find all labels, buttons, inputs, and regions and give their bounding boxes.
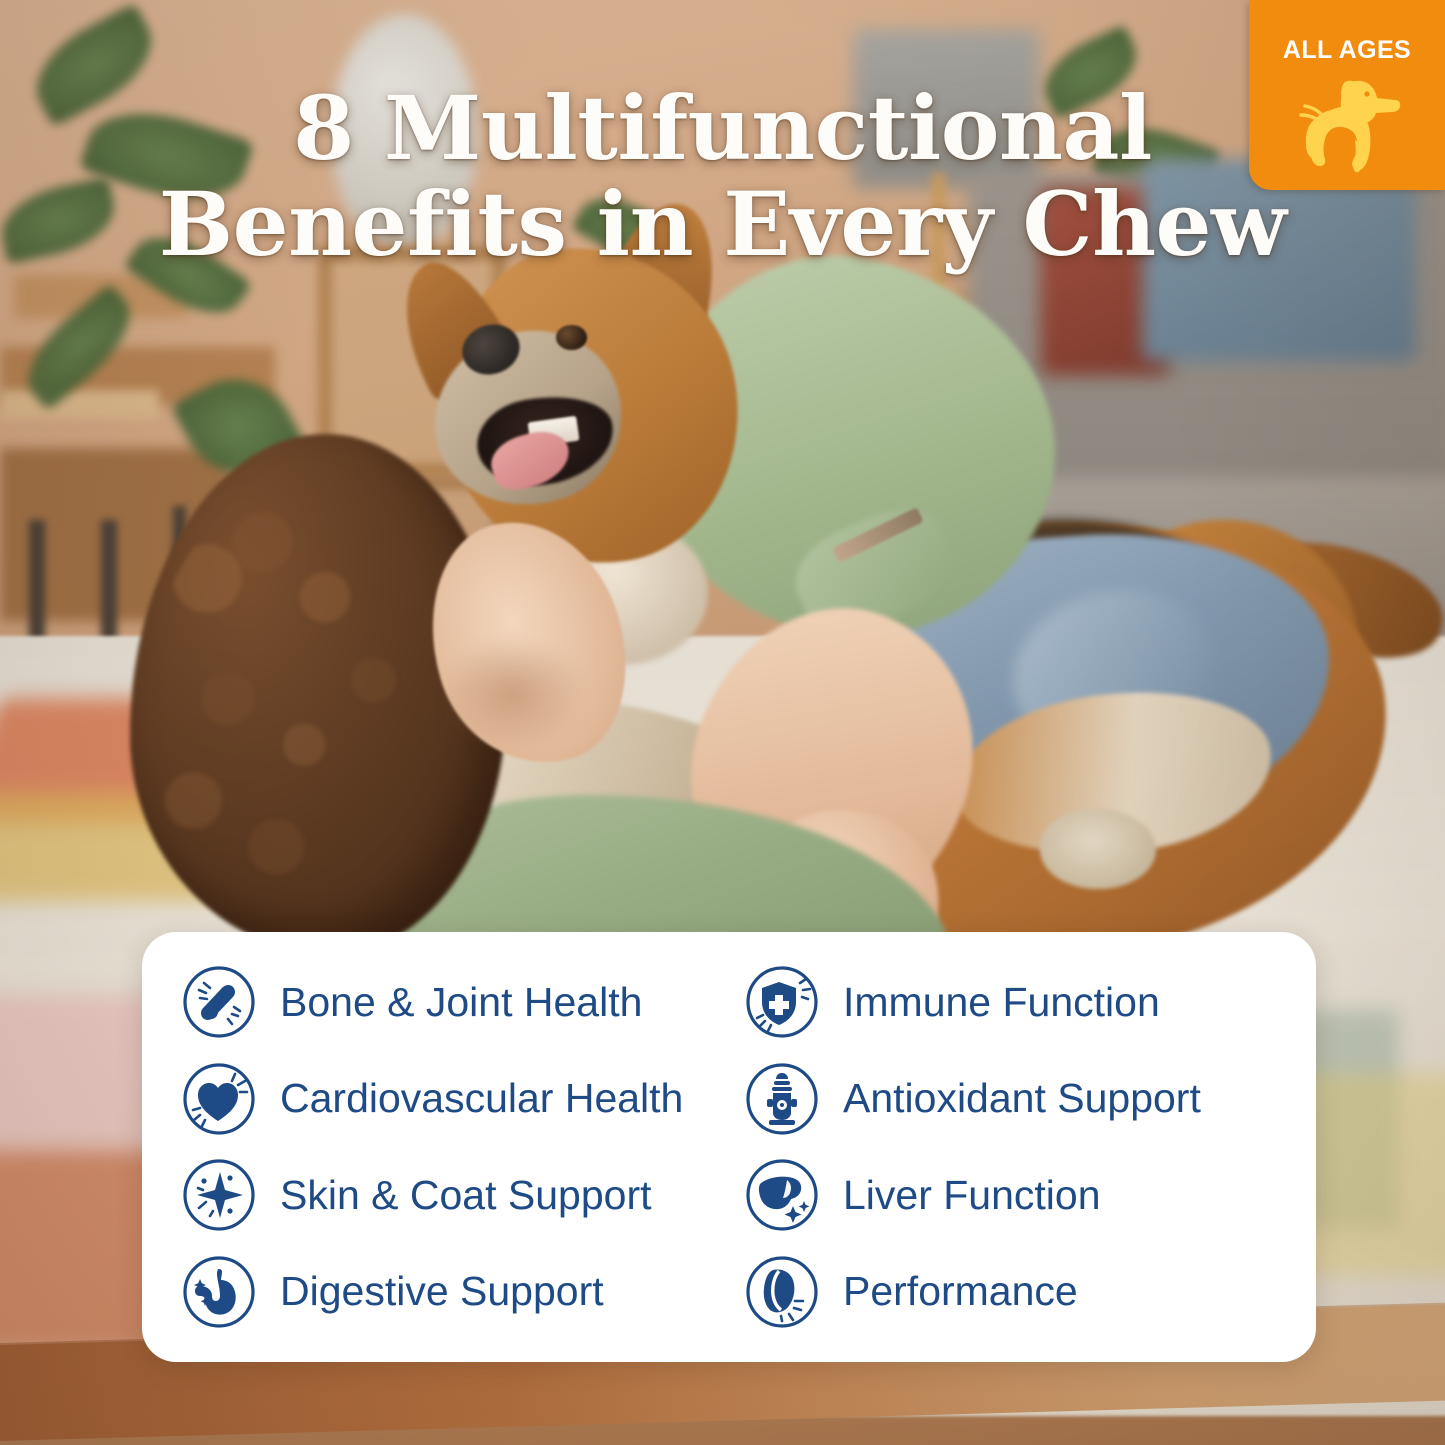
- benefit-item[interactable]: Cardiovascular Health: [180, 1060, 719, 1138]
- benefit-label: Liver Function: [843, 1173, 1101, 1218]
- woman-hair-curls: [145, 477, 492, 939]
- headline-line-1: 8 Multifunctional: [293, 76, 1152, 180]
- benefit-label: Immune Function: [843, 980, 1160, 1025]
- stomach-icon: [180, 1253, 258, 1331]
- benefit-item[interactable]: Bone & Joint Health: [180, 963, 719, 1041]
- benefit-item[interactable]: Liver Function: [743, 1156, 1282, 1234]
- fire-hydrant-icon: [743, 1060, 821, 1138]
- benefit-label: Skin & Coat Support: [280, 1173, 651, 1218]
- sparkle-icon: [180, 1156, 258, 1234]
- benefit-item[interactable]: Performance: [743, 1253, 1282, 1331]
- heart-icon: [180, 1060, 258, 1138]
- dog-hind-paw: [1040, 809, 1156, 888]
- benefit-label: Antioxidant Support: [843, 1076, 1201, 1121]
- benefit-item[interactable]: Digestive Support: [180, 1253, 719, 1331]
- muscle-ball-icon: [743, 1253, 821, 1331]
- shield-plus-icon: [743, 963, 821, 1041]
- liver-icon: [743, 1156, 821, 1234]
- benefit-label: Digestive Support: [280, 1269, 604, 1314]
- dog-eye: [556, 325, 586, 350]
- benefit-item[interactable]: Skin & Coat Support: [180, 1156, 719, 1234]
- benefit-item[interactable]: Immune Function: [743, 963, 1282, 1041]
- benefit-item[interactable]: Antioxidant Support: [743, 1060, 1282, 1138]
- page-title: 8 Multifunctional Benefits in Every Chew: [0, 84, 1445, 270]
- benefit-label: Performance: [843, 1269, 1078, 1314]
- headline-line-2: Benefits in Every Chew: [70, 180, 1375, 270]
- sitting-dog-silhouette-icon: [1287, 68, 1407, 176]
- product-infographic: 8 Multifunctional Benefits in Every Chew…: [0, 0, 1445, 1445]
- woman-face-shadow: [441, 636, 586, 752]
- bone-joint-icon: [180, 963, 258, 1041]
- benefits-card: Bone & Joint Health Immune Function: [142, 932, 1316, 1362]
- all-ages-badge: ALL AGES: [1249, 0, 1445, 190]
- benefit-label: Bone & Joint Health: [280, 980, 642, 1025]
- benefit-label: Cardiovascular Health: [280, 1076, 683, 1121]
- all-ages-label: ALL AGES: [1249, 36, 1445, 65]
